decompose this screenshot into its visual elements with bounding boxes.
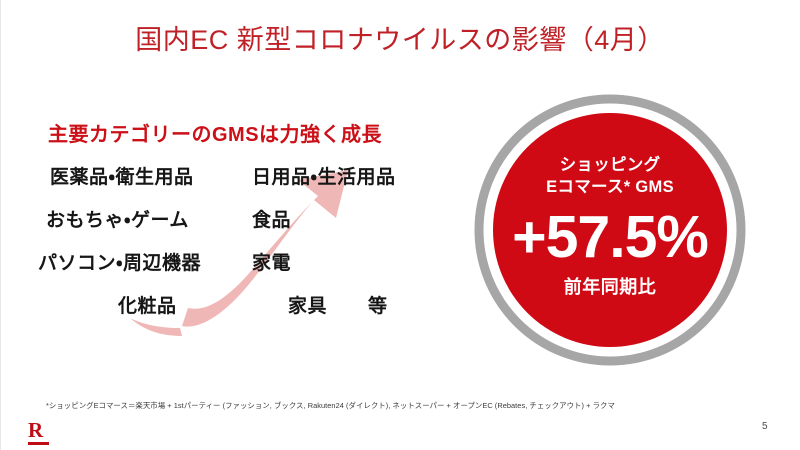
lead-statement: 主要カテゴリーのGMSは力強く成長 [48,118,382,147]
category-block: 主要カテゴリーのGMSは力強く成長 医薬品・衛生用品 日用品・生活用品 おもちゃ… [38,118,458,348]
category-row: 医薬品・衛生用品 日用品・生活用品 [38,162,458,205]
category-item: 日用品・生活用品 [252,162,395,189]
category-row: パソコン・周辺機器 家電 [38,248,458,291]
page-number: 5 [762,421,768,432]
rakuten-logo-underline [28,442,49,445]
category-item: 食品 [252,205,291,232]
category-etc-label: 等 [368,291,387,318]
page-title: 国内EC 新型コロナウイルスの影響（4月） [0,18,800,57]
rakuten-logo: R [28,420,62,446]
category-row: おもちゃ・ゲーム 食品 [38,205,458,248]
category-item: パソコン・周辺機器 [38,248,201,275]
footnote: *ショッピングEコマース＝楽天市場 + 1stパーティー (ファッション, ブッ… [46,400,615,411]
category-item: 家電 [252,248,291,275]
left-edge-rule [0,0,1,450]
category-grid: 医薬品・衛生用品 日用品・生活用品 おもちゃ・ゲーム 食品 パソコン・周辺機器 … [38,162,458,334]
rakuten-logo-letter: R [28,420,62,441]
badge-disc [493,113,727,347]
category-item: おもちゃ・ゲーム [46,205,189,232]
category-row: 化粧品 家具 等 [38,291,458,334]
category-item: 化粧品 [118,291,177,318]
category-item: 医薬品・衛生用品 [50,162,193,189]
slide-canvas: 国内EC 新型コロナウイルスの影響（4月） 主要カテゴリーのGMSは力強く成長 … [0,0,800,450]
gms-growth-badge: ショッピング Eコマース* GMS +57.5% 前年同期比 [472,92,748,368]
category-item: 家具 [288,291,327,318]
